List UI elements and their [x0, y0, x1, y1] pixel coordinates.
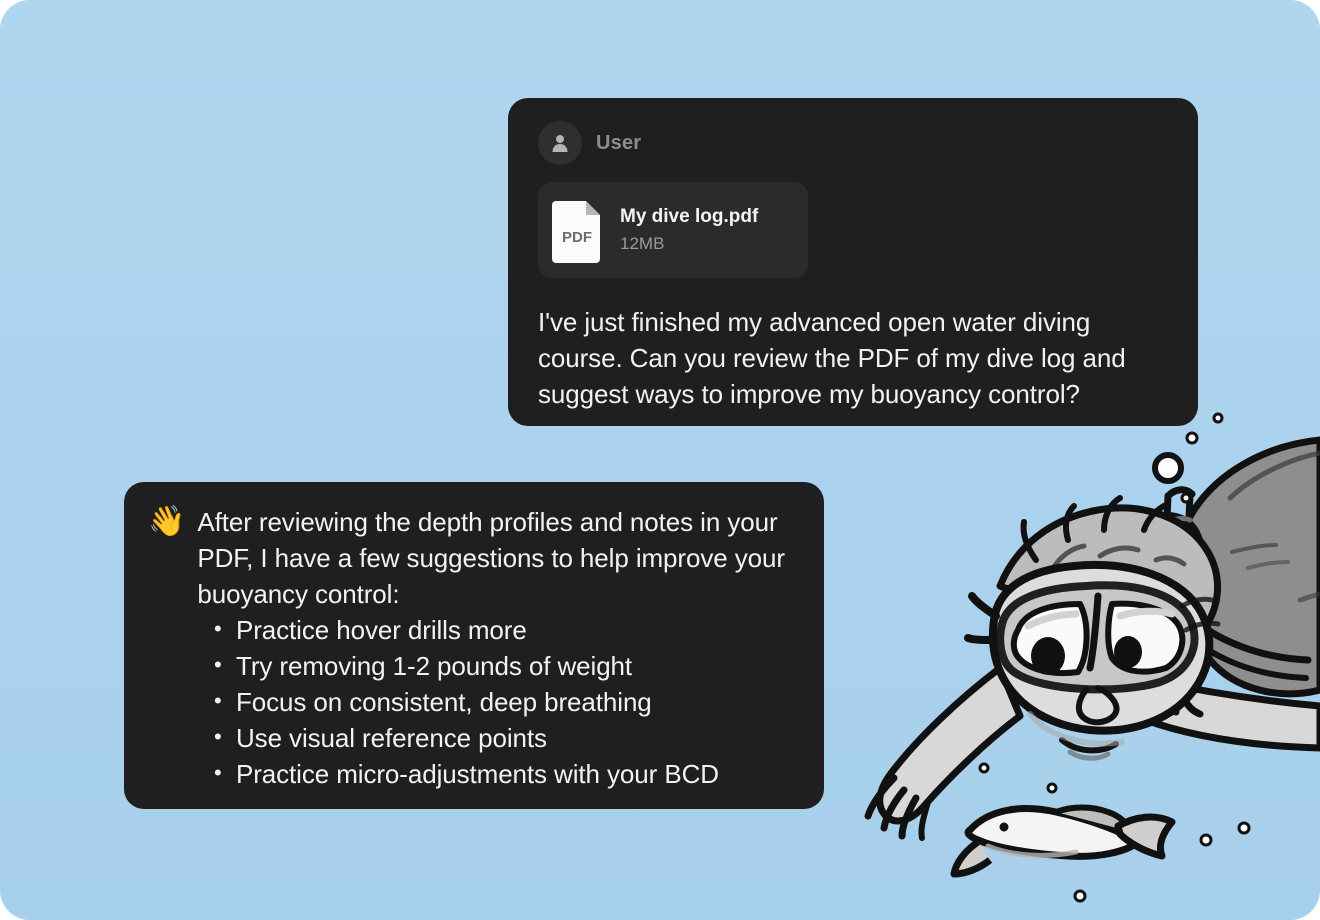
- list-item: Practice micro-adjustments with your BCD: [214, 756, 800, 792]
- sender-label: User: [596, 132, 641, 155]
- person-avatar-icon: [538, 121, 582, 165]
- air-bubbles: [980, 391, 1249, 901]
- list-item: Try removing 1-2 pounds of weight: [214, 648, 800, 684]
- list-item: Focus on consistent, deep breathing: [214, 684, 800, 720]
- pdf-attachment-card[interactable]: PDF My dive log.pdf 12MB: [538, 182, 808, 278]
- user-header: User: [538, 120, 1172, 166]
- user-message-text: I've just finished my advanced open wate…: [538, 304, 1172, 412]
- snorkeler-figure: [868, 440, 1320, 838]
- pdf-file-icon: PDF: [552, 197, 604, 263]
- file-name: My dive log.pdf: [620, 206, 758, 228]
- user-message-bubble: User PDF My dive log.pdf 12MB I've just …: [508, 98, 1198, 426]
- file-meta: My dive log.pdf 12MB: [620, 206, 758, 254]
- file-size: 12MB: [620, 234, 758, 254]
- svg-text:PDF: PDF: [562, 229, 592, 246]
- assistant-message-bubble: 👋 After reviewing the depth profiles and…: [124, 482, 824, 809]
- list-item: Use visual reference points: [214, 720, 800, 756]
- waving-hand-emoji: 👋: [148, 504, 185, 540]
- suggestion-list: Practice hover drills more Try removing …: [148, 612, 800, 792]
- list-item: Practice hover drills more: [214, 612, 800, 648]
- assistant-intro: 👋 After reviewing the depth profiles and…: [148, 504, 800, 612]
- fish-illustration: [954, 808, 1172, 875]
- assistant-intro-text: After reviewing the depth profiles and n…: [197, 504, 800, 612]
- app-canvas: User PDF My dive log.pdf 12MB I've just …: [0, 0, 1320, 920]
